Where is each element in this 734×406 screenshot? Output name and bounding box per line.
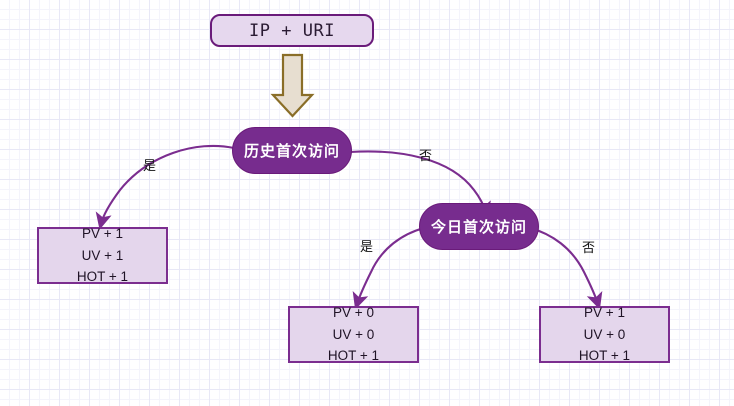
result-line-hot: HOT + 1 — [328, 345, 379, 367]
result-line-hot: HOT + 1 — [579, 345, 630, 367]
result-line-uv: UV + 0 — [333, 324, 375, 346]
block-arrow-start-to-decision1 — [273, 55, 312, 116]
result-line-uv: UV + 0 — [584, 324, 626, 346]
result-node-returning-visitor[interactable]: PV + 1 UV + 0 HOT + 1 — [539, 306, 670, 363]
result-node-today-repeat-visitor[interactable]: PV + 0 UV + 0 HOT + 1 — [288, 306, 419, 363]
result-line-pv: PV + 1 — [584, 302, 625, 324]
diagram-canvas: IP + URI 历史首次访问 今日首次访问 PV + 1 UV + 1 HOT… — [0, 0, 734, 406]
edge-label-decision2-yes: 是 — [360, 240, 373, 253]
start-node-label: IP + URI — [249, 21, 335, 41]
decision-node-history-first-visit[interactable]: 历史首次访问 — [232, 127, 352, 174]
edge-label-decision1-yes: 是 — [143, 159, 156, 172]
result-line-pv: PV + 0 — [333, 302, 374, 324]
result-line-uv: UV + 1 — [82, 245, 124, 267]
decision-node-label: 今日首次访问 — [431, 216, 527, 237]
start-node-ip-uri[interactable]: IP + URI — [210, 14, 374, 47]
result-node-new-visitor[interactable]: PV + 1 UV + 1 HOT + 1 — [37, 227, 168, 284]
decision-node-today-first-visit[interactable]: 今日首次访问 — [419, 203, 539, 250]
decision-node-label: 历史首次访问 — [244, 140, 340, 161]
edge-label-decision2-no: 否 — [582, 241, 595, 254]
edge-label-decision1-no: 否 — [419, 149, 432, 162]
edge-decision1-yes — [101, 146, 234, 224]
result-line-hot: HOT + 1 — [77, 266, 128, 288]
result-line-pv: PV + 1 — [82, 223, 123, 245]
